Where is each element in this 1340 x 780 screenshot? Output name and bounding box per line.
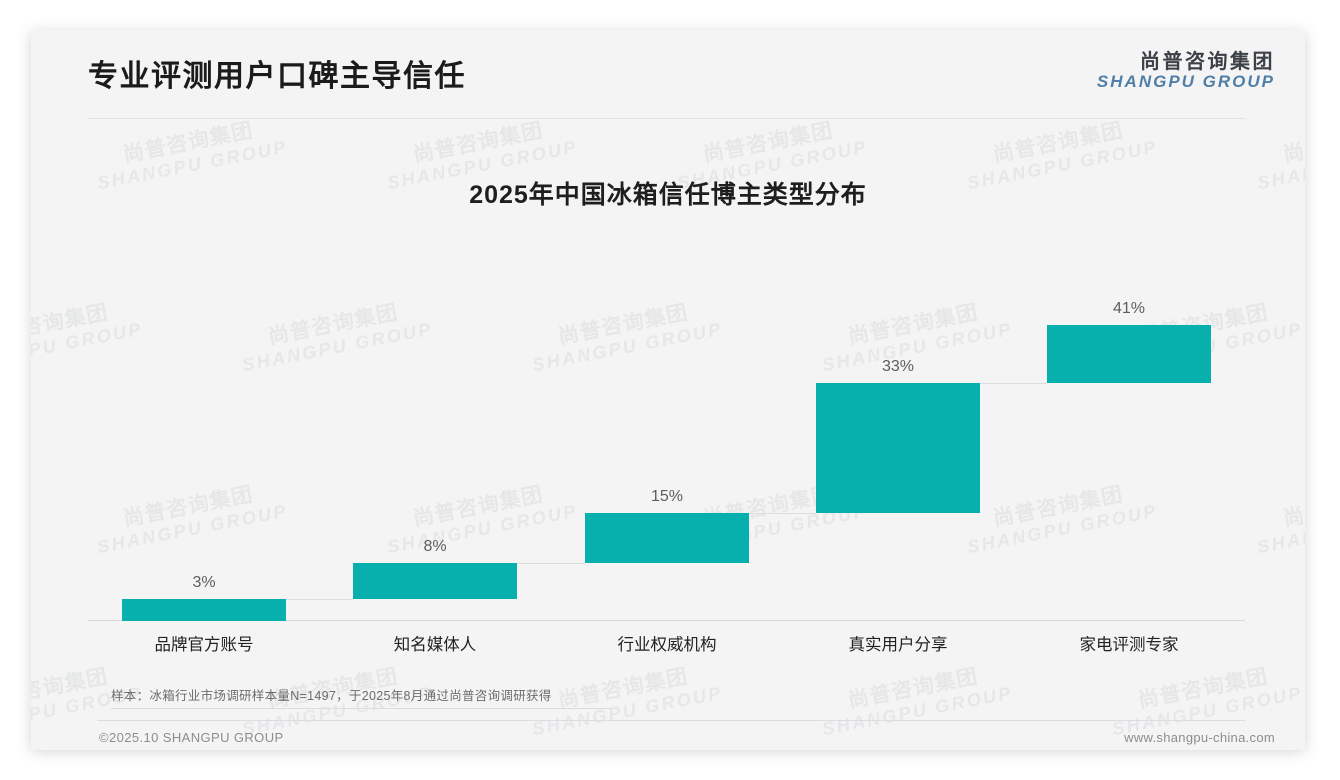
logo-english-text: SHANGPU GROUP: [1097, 73, 1275, 91]
x-axis-category-labels: 品牌官方账号知名媒体人行业权威机构真实用户分享家电评测专家: [88, 631, 1245, 661]
chart-bar[interactable]: [585, 513, 749, 564]
category-label: 家电评测专家: [1047, 631, 1211, 655]
waterfall-connector: [517, 563, 585, 564]
chart-plot-area: 3%8%15%33%41%: [88, 229, 1245, 621]
slide-footer: ©2025.10 SHANGPU GROUP www.shangpu-china…: [31, 720, 1305, 750]
bar-value-label: 33%: [816, 358, 980, 376]
category-label: 知名媒体人: [353, 631, 517, 655]
category-label: 真实用户分享: [816, 631, 980, 655]
waterfall-connector: [286, 599, 353, 600]
category-label: 品牌官方账号: [122, 631, 286, 655]
header-divider: [88, 118, 1245, 119]
category-label: 行业权威机构: [585, 631, 749, 655]
chart-container: 2025年中国冰箱信任博主类型分布 3%8%15%33%41% 品牌官方账号知名…: [31, 119, 1305, 677]
brand-logo: 尚普咨询集团 SHANGPU GROUP: [1097, 52, 1275, 91]
source-note-divider: [111, 708, 611, 709]
chart-bar[interactable]: [353, 563, 517, 599]
bar-value-label: 8%: [353, 538, 517, 556]
footer-copyright: ©2025.10 SHANGPU GROUP: [99, 730, 284, 745]
bar-value-label: 15%: [585, 488, 749, 506]
chart-title: 2025年中国冰箱信任博主类型分布: [31, 175, 1305, 211]
slide-canvas: 尚普咨询集团SHANGPU GROUP尚普咨询集团SHANGPU GROUP尚普…: [31, 30, 1305, 750]
slide-header: 专业评测用户口碑主导信任 尚普咨询集团 SHANGPU GROUP: [31, 30, 1305, 119]
source-note: 样本：冰箱行业市场调研样本量N=1497，于2025年8月通过尚普咨询调研获得: [111, 685, 552, 704]
logo-chinese-text: 尚普咨询集团: [1097, 52, 1275, 73]
page-title: 专业评测用户口碑主导信任: [88, 51, 466, 95]
chart-bar[interactable]: [1047, 325, 1211, 383]
waterfall-connector: [749, 513, 816, 514]
chart-bar[interactable]: [816, 383, 980, 513]
footer-divider: [97, 720, 1245, 721]
screenshot-stage: 尚普咨询集团SHANGPU GROUP尚普咨询集团SHANGPU GROUP尚普…: [0, 0, 1340, 780]
bar-value-label: 41%: [1047, 300, 1211, 318]
bar-value-label: 3%: [122, 574, 286, 592]
chart-bar[interactable]: [122, 599, 286, 621]
footer-website[interactable]: www.shangpu-china.com: [1124, 730, 1275, 745]
waterfall-connector: [980, 383, 1047, 384]
